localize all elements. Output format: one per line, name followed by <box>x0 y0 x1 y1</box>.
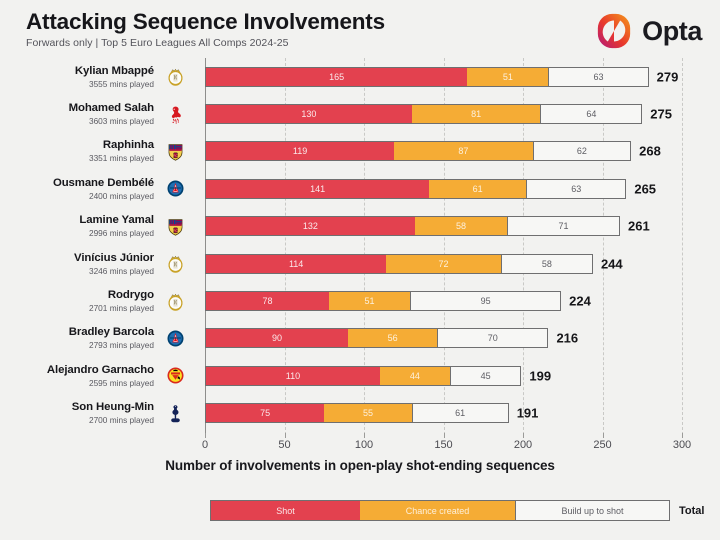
svg-text:FC: FC <box>172 228 177 233</box>
bar-row[interactable]: Ousmane Dembélé2400 mins played141616326… <box>0 170 720 207</box>
bar-row[interactable]: Alejandro Garnacho2595 mins played110444… <box>0 357 720 394</box>
bar-segment-chance-created[interactable]: 61 <box>429 179 526 199</box>
bar-segment-chance-created[interactable]: 51 <box>329 291 410 311</box>
bar-segment-build-up-to-shot[interactable]: 71 <box>507 216 620 236</box>
opta-wordmark: Opta <box>642 16 702 47</box>
bar-segment-build-up-to-shot[interactable]: 70 <box>437 328 548 348</box>
bar-segment-chance-created[interactable]: 51 <box>467 67 548 87</box>
stacked-bar[interactable]: 1416163 <box>205 179 626 199</box>
bar-segment-chance-created[interactable]: 87 <box>394 141 532 161</box>
bar-segment-build-up-to-shot[interactable]: 95 <box>410 291 561 311</box>
player-label: Alejandro Garnacho2595 mins played <box>0 364 160 388</box>
tick-label: 0 <box>202 439 208 451</box>
player-name: Bradley Barcola <box>0 326 154 339</box>
bar-track: 1655163279 <box>190 58 720 95</box>
bar-segment-shot[interactable]: 165 <box>205 67 467 87</box>
bar-segment-shot[interactable]: 78 <box>205 291 329 311</box>
player-label: Lamine Yamal2996 mins played <box>0 214 160 238</box>
row-total: 216 <box>556 331 578 346</box>
bar-track: 1416163265 <box>190 170 720 207</box>
club-badge-barcelona-icon: FC <box>160 142 190 161</box>
tick-mark <box>285 433 286 438</box>
bar-segment-chance-created[interactable]: 58 <box>415 216 507 236</box>
bar-track: 1325871261 <box>190 208 720 245</box>
player-minutes: 3351 mins played <box>0 153 154 163</box>
tick-mark <box>444 433 445 438</box>
legend-total-label: Total <box>670 500 704 521</box>
club-badge-real-madrid-icon <box>160 254 190 273</box>
page-subtitle: Forwards only | Top 5 Euro Leagues All C… <box>26 37 385 49</box>
bar-segment-build-up-to-shot[interactable]: 64 <box>540 104 642 124</box>
bar-segment-shot[interactable]: 132 <box>205 216 415 236</box>
bar-segment-build-up-to-shot[interactable]: 63 <box>548 67 648 87</box>
bar-track: 1147258244 <box>190 245 720 282</box>
stacked-bar[interactable]: 1655163 <box>205 67 649 87</box>
row-total: 275 <box>650 107 672 122</box>
player-name: Raphinha <box>0 139 154 152</box>
chart-page: Attacking Sequence Involvements Forwards… <box>0 0 720 540</box>
bar-segment-shot[interactable]: 90 <box>205 328 348 348</box>
bar-row[interactable]: Lamine Yamal2996 mins playedFC1325871261 <box>0 208 720 245</box>
player-name: Mohamed Salah <box>0 102 154 115</box>
club-badge-real-madrid-icon <box>160 292 190 311</box>
bar-segment-build-up-to-shot[interactable]: 45 <box>450 366 522 386</box>
club-badge-psg-icon <box>160 180 190 197</box>
stacked-bar[interactable]: 1104445 <box>205 366 521 386</box>
bar-segment-shot[interactable]: 130 <box>205 104 412 124</box>
club-badge-barcelona-icon: FC <box>160 217 190 236</box>
tick-label: 50 <box>278 439 290 451</box>
bar-segment-build-up-to-shot[interactable]: 62 <box>533 141 632 161</box>
player-minutes: 2996 mins played <box>0 228 154 238</box>
tick-label: 150 <box>434 439 452 451</box>
legend-item-build-up-to-shot[interactable]: Build up to shot <box>515 500 670 521</box>
bar-segment-chance-created[interactable]: 44 <box>380 366 450 386</box>
bar-track: 1198762268 <box>190 133 720 170</box>
bar-track: 1308164275 <box>190 95 720 132</box>
bar-segment-build-up-to-shot[interactable]: 63 <box>526 179 626 199</box>
bar-segment-build-up-to-shot[interactable]: 58 <box>501 254 593 274</box>
tick-label: 300 <box>673 439 691 451</box>
stacked-bar[interactable]: 1198762 <box>205 141 631 161</box>
stacked-bar[interactable]: 905670 <box>205 328 548 348</box>
player-name: Rodrygo <box>0 289 154 302</box>
row-total: 261 <box>628 219 650 234</box>
player-minutes: 3246 mins played <box>0 266 154 276</box>
legend: Shot Chance created Build up to shot Tot… <box>210 500 704 521</box>
legend-item-chance-created[interactable]: Chance created <box>360 500 515 521</box>
opta-mark-icon <box>595 12 633 50</box>
player-name: Son Heung-Min <box>0 401 154 414</box>
bar-track: 785195224 <box>190 282 720 319</box>
club-badge-man-united-icon <box>160 367 190 384</box>
bar-row[interactable]: Kylian Mbappé3555 mins played1655163279 <box>0 58 720 95</box>
page-title: Attacking Sequence Involvements <box>26 8 385 36</box>
row-total: 224 <box>569 294 591 309</box>
bar-row[interactable]: Bradley Barcola2793 mins played905670216 <box>0 320 720 357</box>
player-minutes: 3603 mins played <box>0 116 154 126</box>
player-label: Ousmane Dembélé2400 mins played <box>0 177 160 201</box>
tick-mark <box>205 433 206 438</box>
stacked-bar[interactable]: 1147258 <box>205 254 593 274</box>
player-label: Son Heung-Min2700 mins played <box>0 401 160 425</box>
player-label: Vinícius Júnior3246 mins played <box>0 252 160 276</box>
bar-row[interactable]: Son Heung-Min2700 mins played755561191 <box>0 395 720 432</box>
row-total: 279 <box>657 69 679 84</box>
row-total: 191 <box>517 406 539 421</box>
bar-row[interactable]: Rodrygo2701 mins played785195224 <box>0 282 720 319</box>
club-badge-real-madrid-icon <box>160 67 190 86</box>
row-total: 244 <box>601 256 623 271</box>
bar-segment-chance-created[interactable]: 72 <box>386 254 500 274</box>
player-minutes: 2700 mins played <box>0 415 154 425</box>
x-axis-title: Number of involvements in open-play shot… <box>0 458 720 473</box>
bar-segment-shot[interactable]: 141 <box>205 179 429 199</box>
stacked-bar[interactable]: 1325871 <box>205 216 620 236</box>
bar-segment-shot[interactable]: 110 <box>205 366 380 386</box>
stacked-bar[interactable]: 755561 <box>205 403 509 423</box>
bar-segment-chance-created[interactable]: 55 <box>324 403 411 423</box>
club-badge-tottenham-icon <box>160 404 190 423</box>
player-name: Lamine Yamal <box>0 214 154 227</box>
tick-label: 200 <box>514 439 532 451</box>
row-total: 199 <box>529 368 551 383</box>
bar-segment-shot[interactable]: 119 <box>205 141 394 161</box>
tick-mark <box>603 433 604 438</box>
bar-segment-shot[interactable]: 75 <box>205 403 324 423</box>
player-label: Bradley Barcola2793 mins played <box>0 326 160 350</box>
x-axis: 050100150200250300 <box>0 433 720 459</box>
bar-row[interactable]: Mohamed Salah3603 mins played1308164275 <box>0 95 720 132</box>
player-label: Kylian Mbappé3555 mins played <box>0 65 160 89</box>
svg-text:FC: FC <box>172 153 177 158</box>
bar-segment-chance-created[interactable]: 56 <box>348 328 437 348</box>
tick-mark <box>682 433 683 438</box>
bar-track: 905670216 <box>190 320 720 357</box>
stacked-bar[interactable]: 785195 <box>205 291 561 311</box>
opta-logo: Opta <box>595 12 702 50</box>
bar-segment-chance-created[interactable]: 81 <box>412 104 541 124</box>
bar-track: 755561191 <box>190 395 720 432</box>
player-minutes: 2701 mins played <box>0 303 154 313</box>
player-name: Ousmane Dembélé <box>0 177 154 190</box>
player-minutes: 2400 mins played <box>0 191 154 201</box>
player-label: Rodrygo2701 mins played <box>0 289 160 313</box>
bar-row[interactable]: Vinícius Júnior3246 mins played114725824… <box>0 245 720 282</box>
player-minutes: 2793 mins played <box>0 340 154 350</box>
tick-label: 250 <box>593 439 611 451</box>
player-minutes: 2595 mins played <box>0 378 154 388</box>
bar-track: 1104445199 <box>190 357 720 394</box>
plot-area: Kylian Mbappé3555 mins played1655163279M… <box>0 58 720 440</box>
row-total: 268 <box>639 144 661 159</box>
bar-rows: Kylian Mbappé3555 mins played1655163279M… <box>0 58 720 432</box>
player-name: Alejandro Garnacho <box>0 364 154 377</box>
row-total: 265 <box>634 181 656 196</box>
club-badge-psg-icon <box>160 330 190 347</box>
player-label: Mohamed Salah3603 mins played <box>0 102 160 126</box>
player-label: Raphinha3351 mins played <box>0 139 160 163</box>
player-name: Vinícius Júnior <box>0 252 154 265</box>
bar-row[interactable]: Raphinha3351 mins playedFC1198762268 <box>0 133 720 170</box>
player-name: Kylian Mbappé <box>0 65 154 78</box>
stacked-bar[interactable]: 1308164 <box>205 104 642 124</box>
header: Attacking Sequence Involvements Forwards… <box>26 8 385 49</box>
club-badge-liverpool-icon <box>160 105 190 124</box>
tick-mark <box>523 433 524 438</box>
legend-item-shot[interactable]: Shot <box>210 500 360 521</box>
tick-label: 100 <box>355 439 373 451</box>
tick-mark <box>364 433 365 438</box>
bar-segment-build-up-to-shot[interactable]: 61 <box>412 403 509 423</box>
bar-segment-shot[interactable]: 114 <box>205 254 386 274</box>
player-minutes: 3555 mins played <box>0 79 154 89</box>
